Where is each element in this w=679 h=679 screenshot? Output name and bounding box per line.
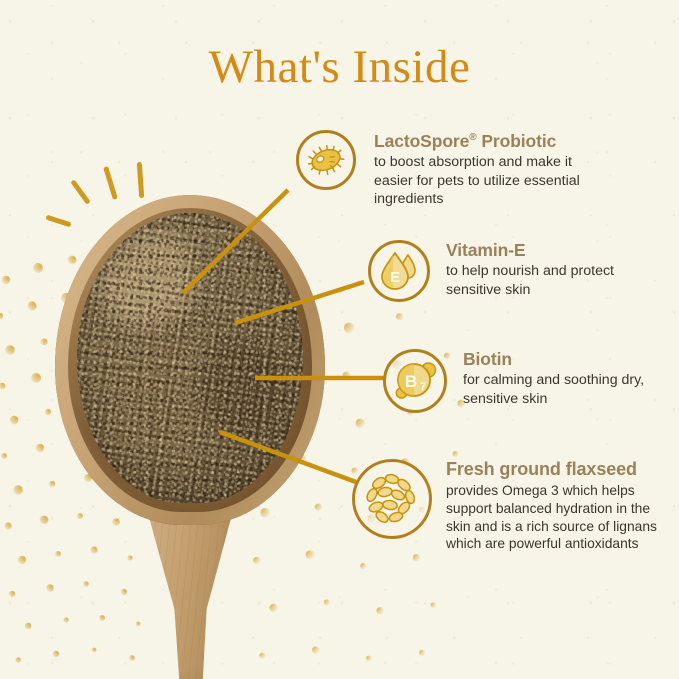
probiotic-badge [296, 130, 356, 190]
flaxseed-text: Fresh ground flaxseed provides Omega 3 w… [446, 457, 658, 553]
vitamine-text: Vitamin-E to help nourish and protect se… [446, 238, 646, 299]
callout-flaxseed: Fresh ground flaxseed provides Omega 3 w… [352, 457, 658, 553]
connector-flaxseed [220, 432, 356, 482]
connector-lines [0, 0, 679, 679]
probiotic-heading: LactoSpore® Probiotic [374, 131, 589, 151]
svg-text:B: B [405, 372, 417, 391]
biotin-b7-molecule-icon: B 7 [392, 358, 438, 404]
flaxseed-cluster-icon [363, 470, 421, 528]
biotin-badge: B 7 [383, 349, 447, 413]
callout-probiotic: LactoSpore® Probiotic to boost absorptio… [296, 129, 589, 208]
callout-biotin: B 7 Biotin for calming and soothing dry,… [383, 347, 658, 413]
vitamine-badge: E [368, 240, 430, 302]
biotin-text: Biotin for calming and soothing dry, sen… [463, 347, 658, 408]
bacteria-microbe-icon [304, 138, 348, 182]
biotin-body: for calming and soothing dry, sensitive … [463, 371, 658, 408]
svg-text:E: E [390, 269, 400, 286]
probiotic-body: to boost absorption and make it easier f… [374, 153, 589, 208]
flaxseed-badge [352, 459, 432, 539]
probiotic-text: LactoSpore® Probiotic to boost absorptio… [374, 129, 589, 208]
svg-text:7: 7 [420, 381, 426, 393]
flaxseed-heading: Fresh ground flaxseed [446, 459, 658, 480]
vitamine-body: to help nourish and protect sensitive sk… [446, 262, 646, 299]
flaxseed-body: provides Omega 3 which helps support bal… [446, 482, 658, 554]
connector-vitamine [235, 282, 364, 323]
vitamine-heading: Vitamin-E [446, 240, 646, 260]
whats-inside-infographic: What's Inside [0, 0, 679, 679]
vitamin-e-droplet-icon: E [378, 249, 420, 293]
connector-probiotic [183, 190, 288, 293]
callout-vitamine: E Vitamin-E to help nourish and protect … [368, 238, 646, 302]
biotin-heading: Biotin [463, 349, 658, 369]
